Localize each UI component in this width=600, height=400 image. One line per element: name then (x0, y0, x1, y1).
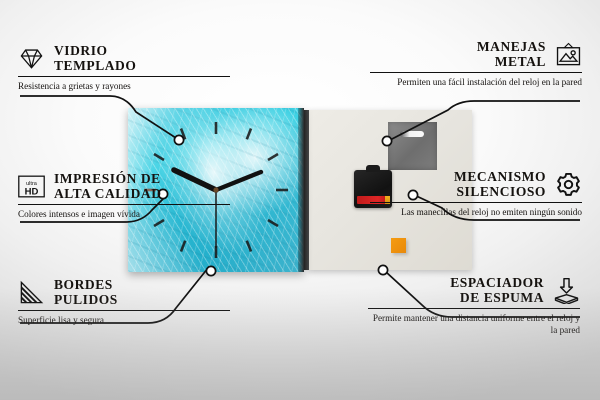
divider (370, 72, 582, 73)
svg-text:HD: HD (25, 187, 39, 198)
feature-title: BORDES PULIDOS (54, 278, 118, 307)
feature-manejas-metal: MANEJAS METAL Permiten una fácil instala… (370, 40, 582, 88)
polished-edges-icon (18, 279, 45, 306)
divider (18, 310, 230, 311)
panel-edge (304, 110, 309, 270)
feature-description: Permiten una fácil instalación del reloj… (370, 76, 582, 88)
feature-description: Permite mantener una distancia uniforme … (368, 312, 580, 337)
feature-mecanismo-silencioso: MECANISMO SILENCIOSO Las manecillas del … (370, 170, 582, 218)
feature-description: Resistencia a grietas y rayones (18, 80, 230, 92)
feature-title: MANEJAS METAL (477, 40, 546, 69)
gear-icon (555, 171, 582, 198)
divider (18, 204, 230, 205)
divider (368, 308, 580, 309)
diamond-icon (18, 45, 45, 72)
feature-description: Colores intensos e imagen vívida (18, 208, 230, 220)
feature-title: MECANISMO SILENCIOSO (454, 170, 546, 199)
divider (18, 76, 230, 77)
feature-title: VIDRIO TEMPLADO (54, 44, 136, 73)
divider (370, 202, 582, 203)
feature-impresion-alta-calidad: ultra HD IMPRESIÓN DE ALTA CALIDAD Color… (18, 172, 230, 220)
clock-glass-edge (298, 108, 304, 272)
feature-title: ESPACIADOR DE ESPUMA (450, 276, 544, 305)
feature-title: IMPRESIÓN DE ALTA CALIDAD (54, 172, 162, 201)
feature-description: Superficie lisa y segura (18, 314, 230, 326)
feature-bordes-pulidos: BORDES PULIDOS Superficie lisa y segura (18, 278, 230, 326)
metal-hanger-plate (388, 122, 437, 170)
hanger-slot (400, 131, 424, 137)
infographic-canvas: VIDRIO TEMPLADO Resistencia a grietas y … (0, 0, 600, 400)
foam-spacer-icon (553, 277, 580, 304)
ultra-hd-icon: ultra HD (18, 173, 45, 200)
picture-frame-icon (555, 41, 582, 68)
feature-description: Las manecillas del reloj no emiten ningú… (370, 206, 582, 218)
feature-vidrio-templado: VIDRIO TEMPLADO Resistencia a grietas y … (18, 44, 230, 92)
feature-espaciador-de-espuma: ESPACIADOR DE ESPUMA Permite mantener un… (368, 276, 580, 337)
foam-spacer-pad (391, 238, 406, 253)
